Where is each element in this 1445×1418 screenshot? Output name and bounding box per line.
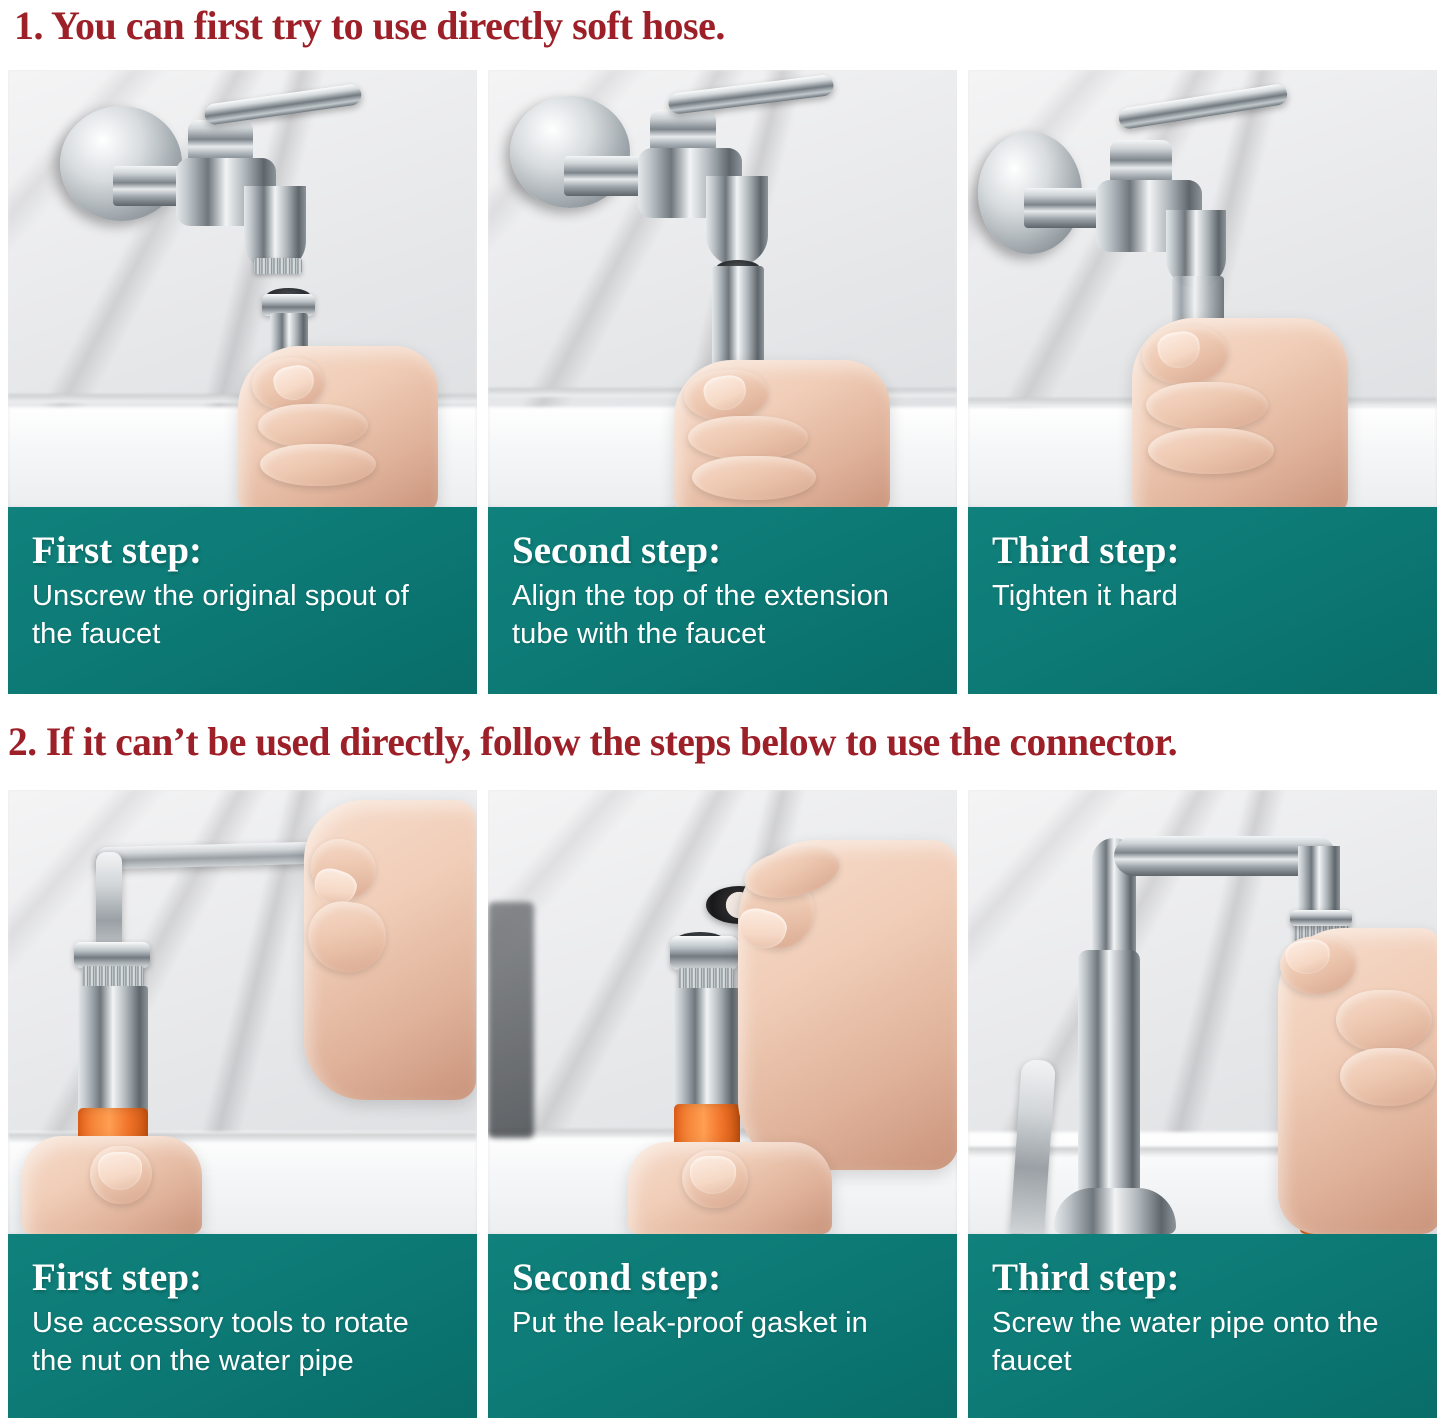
connector-threads <box>678 968 734 990</box>
step-title: Second step: <box>512 529 933 573</box>
step-body: Use accessory tools to rotate the nut on… <box>32 1304 453 1380</box>
section-1-heading: 1. You can first try to use directly sof… <box>14 2 725 50</box>
section-2-panel-row: First step: Use accessory tools to rotat… <box>8 790 1437 1418</box>
step-panel-1-2: Second step: Align the top of the extens… <box>488 70 957 694</box>
ring-finger <box>260 444 376 486</box>
step-body: Unscrew the original spout of the faucet <box>32 577 453 653</box>
faucet-base <box>1054 1188 1176 1234</box>
connector-collar <box>1290 910 1352 926</box>
step-body: Put the leak-proof gasket in <box>512 1304 933 1342</box>
step-title: First step: <box>32 529 453 573</box>
middle-finger <box>688 416 808 460</box>
spout-threads <box>254 258 302 274</box>
faucet-spout <box>706 176 768 266</box>
connector-threads <box>82 966 144 988</box>
step-title: First step: <box>32 1256 453 1300</box>
ring-finger <box>1340 1048 1436 1106</box>
connector-collar <box>74 942 150 968</box>
ring-finger <box>692 456 816 500</box>
caption-box-1-1: First step: Unscrew the original spout o… <box>8 507 477 694</box>
photo-unscrew-spout <box>8 70 477 507</box>
connector-collar <box>670 936 738 970</box>
step-panel-1-1: First step: Unscrew the original spout o… <box>8 70 477 694</box>
middle-finger <box>1146 382 1268 430</box>
step-body: Tighten it hard <box>992 577 1413 615</box>
faucet-column <box>1078 950 1140 1220</box>
instruction-sheet: 1. You can first try to use directly sof… <box>0 0 1445 1418</box>
step-panel-2-2: Second step: Put the leak-proof gasket i… <box>488 790 957 1418</box>
chrome-connector-body <box>78 986 148 1114</box>
background-appliance <box>488 902 534 1138</box>
step-panel-1-3: Third step: Tighten it hard <box>968 70 1437 694</box>
photo-insert-gasket <box>488 790 957 1234</box>
middle-finger <box>1336 990 1432 1052</box>
caption-box-2-2: Second step: Put the leak-proof gasket i… <box>488 1234 957 1418</box>
photo-tighten-tube <box>968 70 1437 507</box>
caption-box-1-3: Third step: Tighten it hard <box>968 507 1437 694</box>
step-body: Screw the water pipe onto the faucet <box>992 1304 1413 1380</box>
caption-box-2-3: Third step: Screw the water pipe onto th… <box>968 1234 1437 1418</box>
step-title: Third step: <box>992 529 1413 573</box>
middle-finger <box>258 404 368 448</box>
photo-align-tube <box>488 70 957 507</box>
section-2-heading: 2. If it can’t be used directly, follow … <box>8 718 1177 766</box>
chrome-connector-body <box>674 988 740 1108</box>
step-title: Second step: <box>512 1256 933 1300</box>
caption-box-2-1: First step: Use accessory tools to rotat… <box>8 1234 477 1418</box>
section-1-panel-row: First step: Unscrew the original spout o… <box>8 70 1437 694</box>
step-panel-2-3: Third step: Screw the water pipe onto th… <box>968 790 1437 1418</box>
caption-box-1-2: Second step: Align the top of the extens… <box>488 507 957 694</box>
ring-finger <box>1148 428 1274 474</box>
photo-rotate-nut-with-tool <box>8 790 477 1234</box>
step-panel-2-1: First step: Use accessory tools to rotat… <box>8 790 477 1418</box>
step-body: Align the top of the extension tube with… <box>512 577 933 653</box>
photo-screw-pipe-onto-faucet <box>968 790 1437 1234</box>
step-title: Third step: <box>992 1256 1413 1300</box>
